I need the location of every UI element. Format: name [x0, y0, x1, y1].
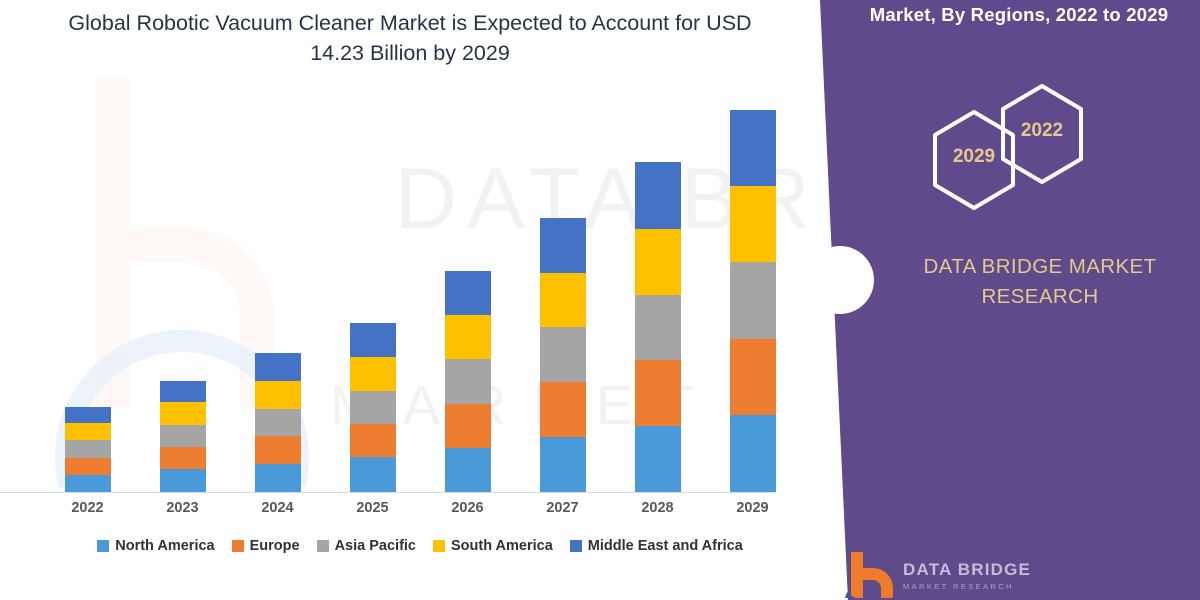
- bar-segment: [445, 271, 491, 315]
- bar-segment: [445, 359, 491, 403]
- legend-label: Europe: [250, 538, 300, 554]
- chart-plot-area: [40, 110, 800, 492]
- legend-label: South America: [451, 538, 553, 554]
- bar-segment: [635, 162, 681, 229]
- bar-stack: [445, 271, 491, 492]
- x-axis-label: 2025: [325, 500, 420, 516]
- bar-segment: [160, 425, 206, 447]
- x-axis-label: 2023: [135, 500, 230, 516]
- footer-logo-subtext: MARKET RESEARCH: [903, 582, 1014, 591]
- x-axis-labels: 20222023202420252026202720282029: [40, 500, 800, 516]
- brand-b-logo-icon: [845, 552, 897, 598]
- bar-segment: [635, 295, 681, 361]
- bar-segment: [350, 457, 396, 492]
- bar-segment: [65, 440, 111, 457]
- bar-segment: [730, 186, 776, 263]
- bar-column: [230, 110, 325, 492]
- bar-column: [515, 110, 610, 492]
- hexagon-badges: 2029 2022: [920, 82, 1120, 212]
- brand-name: DATA BRIDGE MARKET RESEARCH: [890, 252, 1190, 312]
- bar-segment: [540, 273, 586, 327]
- legend-item[interactable]: North America: [97, 538, 214, 554]
- legend-swatch-icon: [317, 540, 329, 552]
- panel-circle-decoration: [806, 246, 874, 314]
- bar-segment: [255, 436, 301, 464]
- x-axis-label: 2022: [40, 500, 135, 516]
- bar-segment: [730, 339, 776, 416]
- bar-segment: [350, 391, 396, 424]
- bar-stack: [635, 162, 681, 492]
- bar-segment: [160, 447, 206, 470]
- bar-segment: [65, 458, 111, 475]
- bar-segment: [255, 353, 301, 381]
- x-axis-label: 2027: [515, 500, 610, 516]
- footer-logo-text: DATA BRIDGE: [903, 560, 1031, 580]
- hexagon-label-right: 2022: [996, 120, 1088, 142]
- bar-segment: [350, 357, 396, 390]
- x-axis-label: 2028: [610, 500, 705, 516]
- legend-item[interactable]: Europe: [232, 538, 300, 554]
- bar-segment: [635, 360, 681, 426]
- legend-label: Asia Pacific: [335, 538, 416, 554]
- bar-stack: [255, 353, 301, 492]
- bar-segment: [730, 262, 776, 339]
- legend-swatch-icon: [97, 540, 109, 552]
- bar-segment: [445, 315, 491, 359]
- x-axis-label: 2024: [230, 500, 325, 516]
- x-axis-label: 2026: [420, 500, 515, 516]
- bar-column: [610, 110, 705, 492]
- bar-column: [135, 110, 230, 492]
- bar-segment: [540, 437, 586, 492]
- panel-heading: Market, By Regions, 2022 to 2029: [838, 4, 1200, 26]
- brand-name-line-1: DATA BRIDGE MARKET: [923, 255, 1156, 278]
- legend-item[interactable]: Middle East and Africa: [570, 538, 743, 554]
- bar-segment: [445, 448, 491, 492]
- bar-stack: [730, 110, 776, 492]
- legend-swatch-icon: [232, 540, 244, 552]
- bar-stack: [540, 218, 586, 492]
- legend-label: North America: [115, 538, 214, 554]
- chart-legend: North AmericaEuropeAsia PacificSouth Ame…: [40, 538, 800, 554]
- bar-stack: [350, 323, 396, 492]
- legend-swatch-icon: [433, 540, 445, 552]
- bar-segment: [160, 381, 206, 403]
- bar-segment: [160, 469, 206, 492]
- bar-segment: [255, 409, 301, 436]
- bar-segment: [540, 327, 586, 382]
- brand-name-line-2: RESEARCH: [981, 285, 1098, 308]
- bar-segment: [635, 229, 681, 295]
- bar-stack: [160, 381, 206, 492]
- bar-stack: [65, 407, 111, 492]
- x-axis-line: [0, 492, 775, 493]
- hexagon-badge-2022: 2022: [996, 82, 1088, 186]
- bar-segment: [65, 475, 111, 492]
- legend-swatch-icon: [570, 540, 582, 552]
- bar-column: [40, 110, 135, 492]
- bar-segment: [730, 415, 776, 492]
- footer-logo: DATA BRIDGE MARKET RESEARCH: [845, 552, 1095, 600]
- bar-segment: [160, 402, 206, 425]
- legend-item[interactable]: Asia Pacific: [317, 538, 416, 554]
- bar-segment: [255, 381, 301, 409]
- stacked-bar-group: [40, 110, 800, 492]
- bar-segment: [540, 382, 586, 437]
- bar-segment: [540, 218, 586, 273]
- bar-segment: [635, 426, 681, 492]
- bar-column: [325, 110, 420, 492]
- bar-column: [705, 110, 800, 492]
- legend-label: Middle East and Africa: [588, 538, 743, 554]
- bar-segment: [255, 464, 301, 492]
- bar-segment: [65, 407, 111, 423]
- bar-column: [420, 110, 515, 492]
- infographic-canvas: DATA BRIDGE MARKET Global Robotic Vacuum…: [0, 0, 1200, 600]
- bar-segment: [65, 423, 111, 440]
- bar-segment: [350, 323, 396, 358]
- legend-item[interactable]: South America: [433, 538, 553, 554]
- bar-segment: [350, 424, 396, 457]
- x-axis-label: 2029: [705, 500, 800, 516]
- bar-segment: [730, 110, 776, 186]
- chart-title: Global Robotic Vacuum Cleaner Market is …: [40, 8, 780, 68]
- bar-segment: [445, 404, 491, 448]
